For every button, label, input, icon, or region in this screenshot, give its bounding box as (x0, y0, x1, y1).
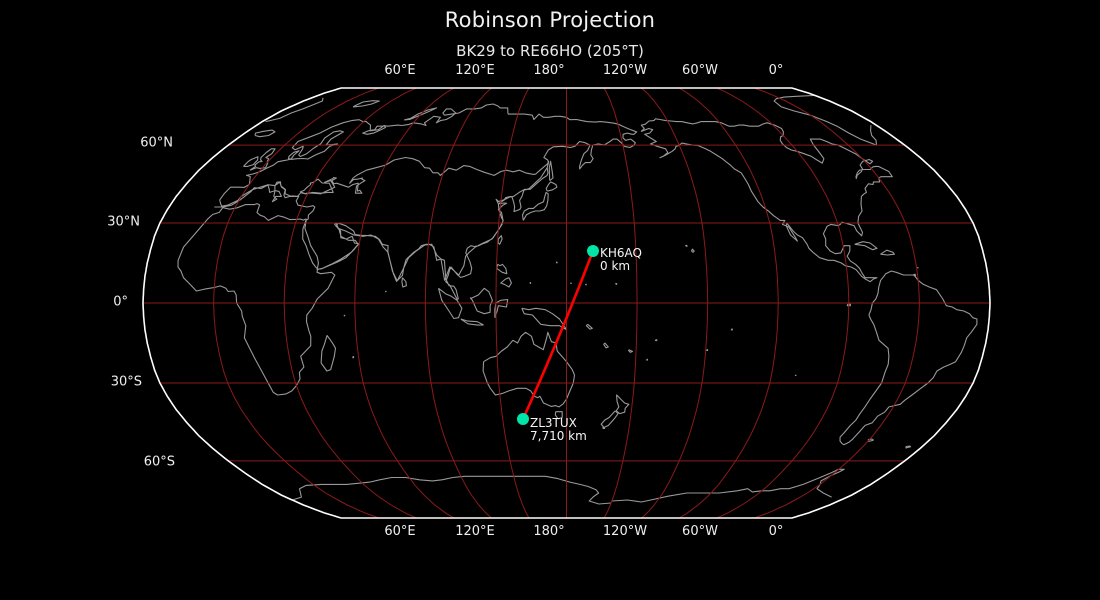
coastline-segment (871, 125, 877, 145)
lon-tick-label-top: 120°W (603, 63, 647, 78)
lon-tick-label-bottom: 120°W (603, 524, 647, 539)
lon-tick-label-bottom: 180° (533, 524, 564, 539)
lon-tick-label-top: 180° (533, 63, 564, 78)
coastline-segment (557, 262, 558, 263)
lat-tick-label: 60°S (0, 455, 175, 470)
coastline-segment (344, 315, 345, 316)
coastline-segment (616, 284, 617, 285)
coastline-segment (707, 350, 708, 351)
coastline-segment (549, 161, 553, 180)
coastline-segment (402, 278, 407, 287)
marker-start-distance: 0 km (600, 260, 642, 273)
coastline-segment (604, 343, 609, 348)
coastline-segment (523, 192, 549, 220)
coastline-segment (855, 242, 877, 250)
lon-tick-label-top: 120°E (455, 63, 495, 78)
coastline-segment (571, 283, 572, 284)
marker-end[interactable] (517, 413, 529, 425)
lon-tick-label-bottom: 120°E (455, 524, 495, 539)
coastline-segment (586, 324, 592, 329)
coastline-segment (255, 130, 275, 137)
coastline-segment (292, 476, 611, 504)
marker-end-label: ZL3TUX 7,710 km (530, 417, 587, 443)
coastline-segment (495, 300, 508, 318)
coastline-segment (353, 357, 354, 358)
coastline-segment (501, 278, 512, 287)
lon-tick-label-top: 0° (769, 63, 784, 78)
coastline-segment (656, 340, 657, 341)
coastline-segment (178, 104, 637, 395)
coastline-segment (470, 288, 492, 313)
graticule-lines (143, 88, 990, 518)
coastline-segment (353, 101, 379, 107)
coastline-segment (647, 359, 648, 360)
coastline-segment (881, 250, 895, 255)
coastline-segment (522, 308, 567, 329)
lat-tick-label: 0° (0, 295, 128, 310)
coastline-segment (603, 428, 605, 429)
coastline-segment (497, 264, 507, 273)
coastline-segment (686, 245, 687, 246)
coastline-segment (461, 319, 484, 325)
lon-tick-label-bottom: 0° (769, 524, 784, 539)
lon-tick-label-top: 60°W (682, 63, 718, 78)
coastline-segment (840, 271, 977, 445)
coastline-segment (386, 291, 387, 292)
marker-start[interactable] (587, 245, 599, 257)
coastline-segment (546, 182, 557, 191)
map-figure: Robinson Projection BK29 to RE66HO (205°… (0, 0, 1100, 600)
lon-tick-label-bottom: 60°E (384, 524, 415, 539)
coastline-segment (498, 236, 502, 245)
coastline-segment (530, 283, 531, 284)
coastline-segment (691, 249, 694, 252)
lon-tick-label-bottom: 60°W (682, 524, 718, 539)
coastline-segment (906, 446, 911, 448)
coastline-segment (612, 469, 844, 502)
coastline-segment (321, 336, 335, 372)
coastline-segment (266, 98, 323, 122)
coastline-segment (629, 350, 633, 353)
marker-start-label: KH6AQ 0 km (600, 247, 642, 273)
marker-end-distance: 7,710 km (530, 430, 587, 443)
lat-tick-label: 30°S (0, 375, 142, 390)
lon-tick-label-top: 60°E (384, 63, 415, 78)
great-circle-path (523, 251, 593, 419)
coastline-segment (616, 395, 629, 414)
coastline-segment (731, 329, 732, 330)
coastline-segment (586, 284, 587, 285)
lat-tick-label: 30°N (0, 215, 140, 230)
map-canvas (0, 0, 1100, 600)
lat-tick-label: 60°N (0, 136, 173, 151)
coastline-segment (601, 411, 618, 428)
